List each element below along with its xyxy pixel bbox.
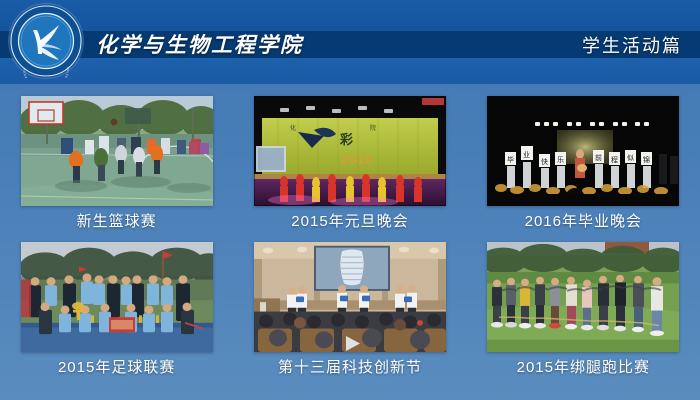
school-title: 化学与生物工程学院 — [96, 30, 303, 60]
header-band-top — [0, 0, 700, 31]
page-header: 湖南科技学院 HUNAN UNIVERSITY OF SCIENCE AND E… — [0, 0, 700, 84]
section-title: 学生活动篇 — [582, 32, 682, 60]
photo-caption: 2015年元旦晚会 — [291, 213, 408, 231]
photo-caption: 第十三届科技创新节 — [278, 359, 422, 377]
svg-text:2016: 2016 — [340, 153, 373, 167]
svg-text:前: 前 — [595, 153, 602, 162]
photo-graduation-gala-2016[interactable]: 毕业快 乐前程 似锦 — [487, 96, 679, 206]
photo-football-league-2015[interactable] — [21, 242, 213, 352]
gallery-item[interactable]: 彩 2016 化 院 — [233, 96, 466, 231]
photo-caption: 新生篮球赛 — [77, 213, 157, 231]
photo-new-year-gala-2015[interactable]: 彩 2016 化 院 — [254, 96, 446, 206]
svg-text:业: 业 — [523, 150, 530, 159]
photo-caption: 2016年毕业晚会 — [525, 213, 642, 231]
photo-gallery: 新生篮球赛 — [0, 84, 700, 400]
photo-basketball-game[interactable] — [21, 96, 213, 206]
svg-text:快: 快 — [541, 157, 548, 166]
svg-text:似: 似 — [627, 154, 634, 162]
svg-text:化: 化 — [290, 124, 296, 132]
svg-text:院: 院 — [370, 124, 376, 132]
svg-text:锦: 锦 — [643, 155, 650, 164]
svg-text:程: 程 — [611, 155, 618, 164]
photo-science-innovation-festival[interactable] — [254, 242, 446, 352]
gallery-item[interactable]: 2015年绑腿跑比赛 — [467, 242, 700, 377]
gallery-item[interactable]: 毕业快 乐前程 似锦 — [467, 96, 700, 231]
gallery-item[interactable]: 新生篮球赛 — [0, 96, 233, 231]
gallery-item[interactable]: 2015年足球联赛 — [0, 242, 233, 377]
university-seal-icon: 湖南科技学院 HUNAN UNIVERSITY OF SCIENCE AND E… — [9, 4, 83, 78]
header-band-bottom — [0, 58, 700, 84]
photo-tied-leg-race-2015[interactable] — [487, 242, 679, 352]
gallery-row-2: 2015年足球联赛 — [0, 242, 700, 377]
gallery-row-1: 新生篮球赛 — [0, 96, 700, 231]
gallery-item[interactable]: 第十三届科技创新节 — [233, 242, 466, 377]
photo-caption: 2015年绑腿跑比赛 — [517, 359, 650, 377]
svg-text:毕: 毕 — [507, 155, 514, 164]
photo-caption: 2015年足球联赛 — [58, 359, 175, 377]
svg-text:乐: 乐 — [557, 155, 564, 164]
svg-text:彩: 彩 — [339, 132, 353, 148]
